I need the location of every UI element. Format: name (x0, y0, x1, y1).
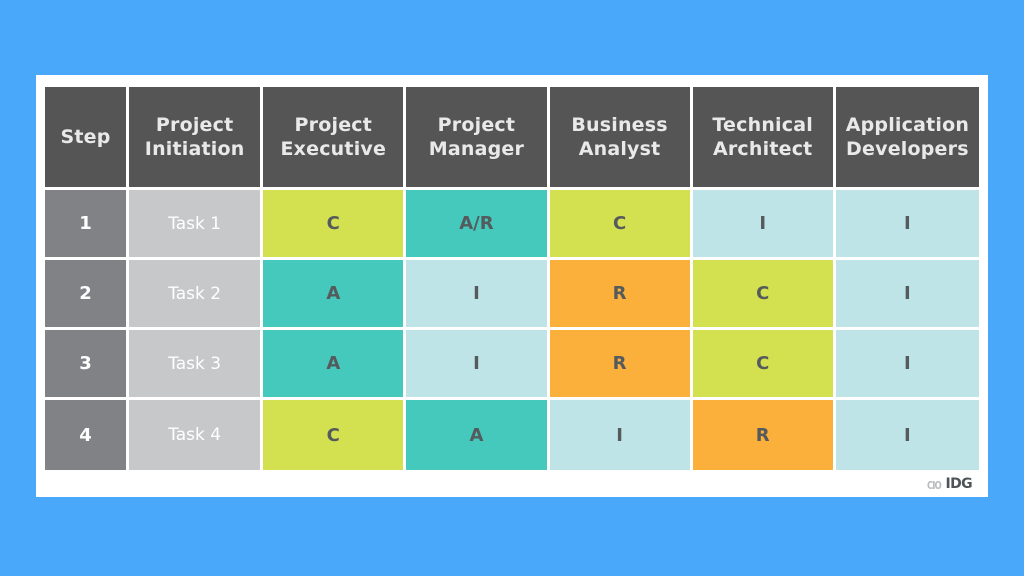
task-label: Task 4 (129, 400, 263, 470)
column-header-project-initiation-line1: Project (129, 113, 260, 137)
column-header-step-line1: Step (45, 125, 126, 149)
raci-cell: C (693, 330, 836, 400)
header-row: Step Project Initiation Project Executiv… (45, 87, 979, 190)
table-body: 1 Task 1 C A/R C I I 2 Task 2 A I R C I (45, 190, 979, 470)
task-label: Task 2 (129, 260, 263, 330)
column-header-application-developers: Application Developers (836, 87, 979, 190)
column-header-project-executive-line1: Project (263, 113, 403, 137)
column-header-technical-architect: Technical Architect (693, 87, 836, 190)
column-header-technical-architect-line1: Technical (693, 113, 833, 137)
cio-idg-logo: CIO IDG (923, 476, 972, 492)
table-row: 3 Task 3 A I R C I (45, 330, 979, 400)
raci-cell: I (836, 330, 979, 400)
column-header-project-manager: Project Manager (406, 87, 549, 190)
raci-cell: I (550, 400, 693, 470)
raci-cell: I (693, 190, 836, 260)
raci-cell: I (836, 190, 979, 260)
cio-logo-text: CIO (926, 479, 940, 492)
idg-logo-text: IDG (945, 476, 972, 492)
table-row: 4 Task 4 C A I R I (45, 400, 979, 470)
raci-cell: R (693, 400, 836, 470)
column-header-project-executive: Project Executive (263, 87, 406, 190)
task-label: Task 1 (129, 190, 263, 260)
raci-cell: R (550, 330, 693, 400)
column-header-business-analyst-line1: Business (550, 113, 690, 137)
column-header-project-manager-line1: Project (406, 113, 546, 137)
column-header-business-analyst: Business Analyst (550, 87, 693, 190)
column-header-business-analyst-line2: Analyst (550, 137, 690, 161)
column-header-application-developers-line1: Application (836, 113, 979, 137)
step-number: 2 (45, 260, 129, 330)
raci-cell: I (836, 260, 979, 330)
raci-cell: C (263, 190, 406, 260)
slide-canvas: Step Project Initiation Project Executiv… (0, 0, 1024, 576)
raci-cell: I (836, 400, 979, 470)
step-number: 4 (45, 400, 129, 470)
raci-cell: A (406, 400, 549, 470)
table-row: 2 Task 2 A I R C I (45, 260, 979, 330)
column-header-technical-architect-line2: Architect (693, 137, 833, 161)
table-header: Step Project Initiation Project Executiv… (45, 87, 979, 190)
task-label: Task 3 (129, 330, 263, 400)
column-header-application-developers-line2: Developers (836, 137, 979, 161)
raci-cell: I (406, 330, 549, 400)
raci-cell: A (263, 330, 406, 400)
column-header-project-executive-line2: Executive (263, 137, 403, 161)
step-number: 1 (45, 190, 129, 260)
column-header-step: Step (45, 87, 129, 190)
raci-cell: I (406, 260, 549, 330)
table-row: 1 Task 1 C A/R C I I (45, 190, 979, 260)
step-number: 3 (45, 330, 129, 400)
column-header-project-initiation-line2: Initiation (129, 137, 260, 161)
raci-cell: A/R (406, 190, 549, 260)
column-header-project-manager-line2: Manager (406, 137, 546, 161)
raci-cell: R (550, 260, 693, 330)
raci-matrix-table: Step Project Initiation Project Executiv… (45, 87, 979, 470)
raci-matrix-card: Step Project Initiation Project Executiv… (36, 75, 988, 497)
raci-cell: C (550, 190, 693, 260)
raci-cell: A (263, 260, 406, 330)
raci-cell: C (263, 400, 406, 470)
column-header-project-initiation: Project Initiation (129, 87, 263, 190)
raci-cell: C (693, 260, 836, 330)
